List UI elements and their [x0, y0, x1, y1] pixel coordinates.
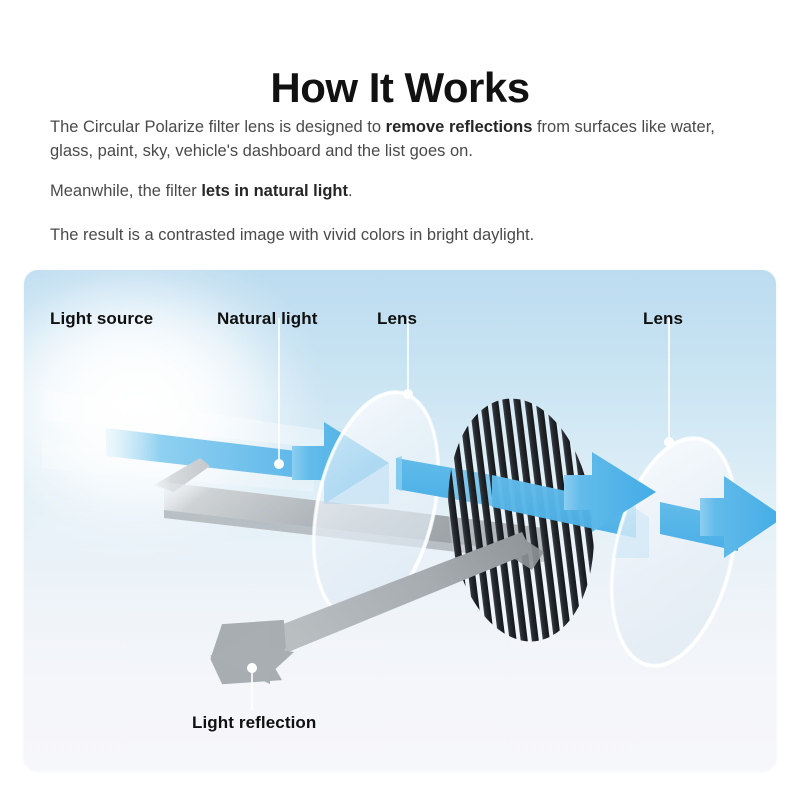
dot-natural-light [274, 459, 284, 469]
label-lens-right: Lens [643, 309, 683, 329]
dot-light-reflection [247, 663, 257, 673]
dot-lens-left [403, 389, 413, 399]
natural-light-text-bold: lets in natural light [201, 182, 348, 200]
natural-light-text-prefix: Meanwhile, the filter [50, 182, 201, 200]
natural-light-text-suffix: . [348, 182, 353, 200]
dot-lens-right [664, 437, 674, 447]
page-title: How It Works [0, 64, 800, 112]
label-light-source: Light source [50, 309, 153, 329]
result-paragraph: The result is a contrasted image with vi… [50, 223, 760, 247]
diagram-card: Light source Natural light Lens Lens Lig… [24, 270, 776, 770]
page-root: How It Works The Circular Polarize filte… [0, 0, 800, 800]
label-natural-light: Natural light [217, 309, 317, 329]
intro-text-prefix: The Circular Polarize filter lens is des… [50, 118, 386, 136]
intro-paragraph: The Circular Polarize filter lens is des… [50, 115, 760, 163]
label-lens-left: Lens [377, 309, 417, 329]
intro-text-bold: remove reflections [386, 118, 533, 136]
label-light-reflection: Light reflection [192, 713, 316, 733]
natural-light-paragraph: Meanwhile, the filter lets in natural li… [50, 179, 760, 203]
polarizer-diagram [24, 270, 776, 770]
